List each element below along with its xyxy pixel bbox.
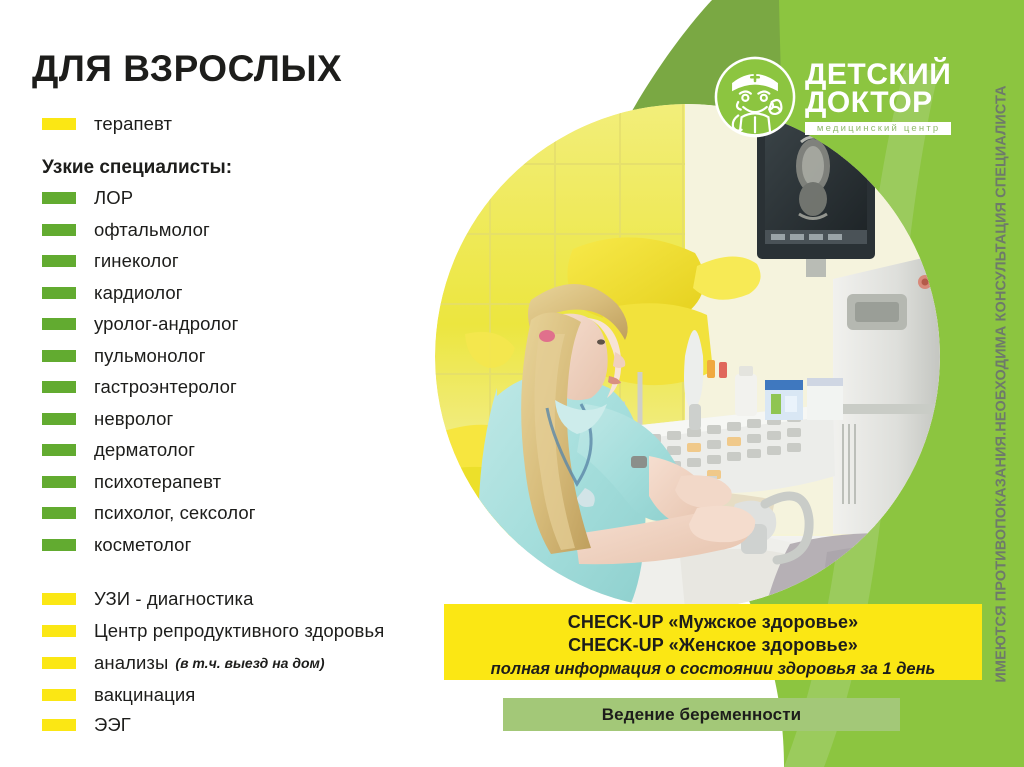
logo-line-2: ДОКТОР xyxy=(805,89,951,117)
green-chip-icon xyxy=(42,255,76,267)
list-item: психолог, сексолог xyxy=(42,502,256,524)
yellow-chip-icon xyxy=(42,118,76,130)
yellow-chip-icon xyxy=(42,593,76,605)
page-title: ДЛЯ ВЗРОСЛЫХ xyxy=(32,48,342,90)
bullet-label: психотерапевт xyxy=(94,471,221,493)
bullet-label: УЗИ - диагностика xyxy=(94,588,253,610)
checkup-line-1: CHECK-UP «Мужское здоровье» xyxy=(444,611,982,634)
bullet-label: кардиолог xyxy=(94,282,183,304)
bullet-label: вакцинация xyxy=(94,684,195,706)
yellow-chip-icon xyxy=(42,719,76,731)
yellow-chip-icon xyxy=(42,625,76,637)
list-item: невролог xyxy=(42,408,173,430)
logo-wordmark: ДЕТСКИЙ ДОКТОР медицинский центр xyxy=(805,59,951,134)
list-item: уролог-андролог xyxy=(42,313,238,335)
bullet-label: пульмонолог xyxy=(94,345,206,367)
checkup-line-3: полная информация о состоянии здоровья з… xyxy=(444,658,982,680)
checkup-line-3-emphasis: за 1 день xyxy=(860,660,935,678)
bullet-label: гастроэнтеролог xyxy=(94,376,237,398)
doctor-face-icon xyxy=(713,55,797,139)
logo-line-1: ДЕТСКИЙ xyxy=(805,61,951,89)
slide-canvas: ДЕТСКИЙ ДОКТОР медицинский центр ИМЕЮТСЯ… xyxy=(0,0,1024,767)
green-chip-icon xyxy=(42,381,76,393)
list-item: гинеколог xyxy=(42,250,179,272)
green-chip-icon xyxy=(42,350,76,362)
bullet-label: психолог, сексолог xyxy=(94,502,256,524)
disclaimer-strip: ИМЕЮТСЯ ПРОТИВОПОКАЗАНИЯ.НЕОБХОДИМА КОНС… xyxy=(980,0,1024,767)
bullet-label: гинеколог xyxy=(94,250,179,272)
logo-subtitle: медицинский центр xyxy=(805,122,951,135)
bullet-note: (в т.ч. выезд на дом) xyxy=(175,655,324,671)
green-chip-icon xyxy=(42,192,76,204)
logo: ДЕТСКИЙ ДОКТОР медицинский центр xyxy=(713,48,935,146)
list-item: кардиолог xyxy=(42,282,183,304)
green-chip-icon xyxy=(42,539,76,551)
list-item: ЛОР xyxy=(42,187,133,209)
green-chip-icon xyxy=(42,224,76,236)
yellow-chip-icon xyxy=(42,689,76,701)
pregnancy-banner-label: Ведение беременности xyxy=(602,705,801,725)
list-item: офтальмолог xyxy=(42,219,210,241)
ultrasound-photo xyxy=(435,104,940,609)
green-chip-icon xyxy=(42,507,76,519)
bullet-label: ЛОР xyxy=(94,187,133,209)
checkup-line-3-prefix: полная информация о состоянии здоровья xyxy=(491,660,861,678)
checkup-line-2: CHECK-UP «Женское здоровье» xyxy=(444,634,982,657)
bullet-label: Центр репродуктивного здоровья xyxy=(94,620,384,642)
bullet-label: ЭЭГ xyxy=(94,714,131,736)
green-chip-icon xyxy=(42,318,76,330)
green-chip-icon xyxy=(42,413,76,425)
bullet-label: дерматолог xyxy=(94,439,195,461)
list-item: пульмонолог xyxy=(42,345,206,367)
list-item: Центр репродуктивного здоровья xyxy=(42,620,384,642)
yellow-chip-icon xyxy=(42,657,76,669)
list-item: дерматолог xyxy=(42,439,195,461)
bullet-label: невролог xyxy=(94,408,173,430)
list-item: ЭЭГ xyxy=(42,714,131,736)
pregnancy-banner: Ведение беременности xyxy=(503,698,900,731)
list-item-therapist: терапевт xyxy=(42,113,172,135)
green-chip-icon xyxy=(42,476,76,488)
bullet-label: анализы xyxy=(94,652,168,674)
section-heading: Узкие специалисты: xyxy=(42,157,232,179)
list-item: анализы (в т.ч. выезд на дом) xyxy=(42,652,325,674)
green-chip-icon xyxy=(42,444,76,456)
list-item: УЗИ - диагностика xyxy=(42,588,253,610)
green-chip-icon xyxy=(42,287,76,299)
bullet-label: терапевт xyxy=(94,113,172,135)
checkup-banner: CHECK-UP «Мужское здоровье» CHECK-UP «Же… xyxy=(444,604,982,680)
bullet-label: офтальмолог xyxy=(94,219,210,241)
bullet-label: уролог-андролог xyxy=(94,313,238,335)
bullet-label: косметолог xyxy=(94,534,191,556)
list-item: гастроэнтеролог xyxy=(42,376,237,398)
disclaimer-text: ИМЕЮТСЯ ПРОТИВОПОКАЗАНИЯ.НЕОБХОДИМА КОНС… xyxy=(994,85,1010,682)
list-item: психотерапевт xyxy=(42,471,221,493)
list-item: косметолог xyxy=(42,534,191,556)
list-item: вакцинация xyxy=(42,684,195,706)
